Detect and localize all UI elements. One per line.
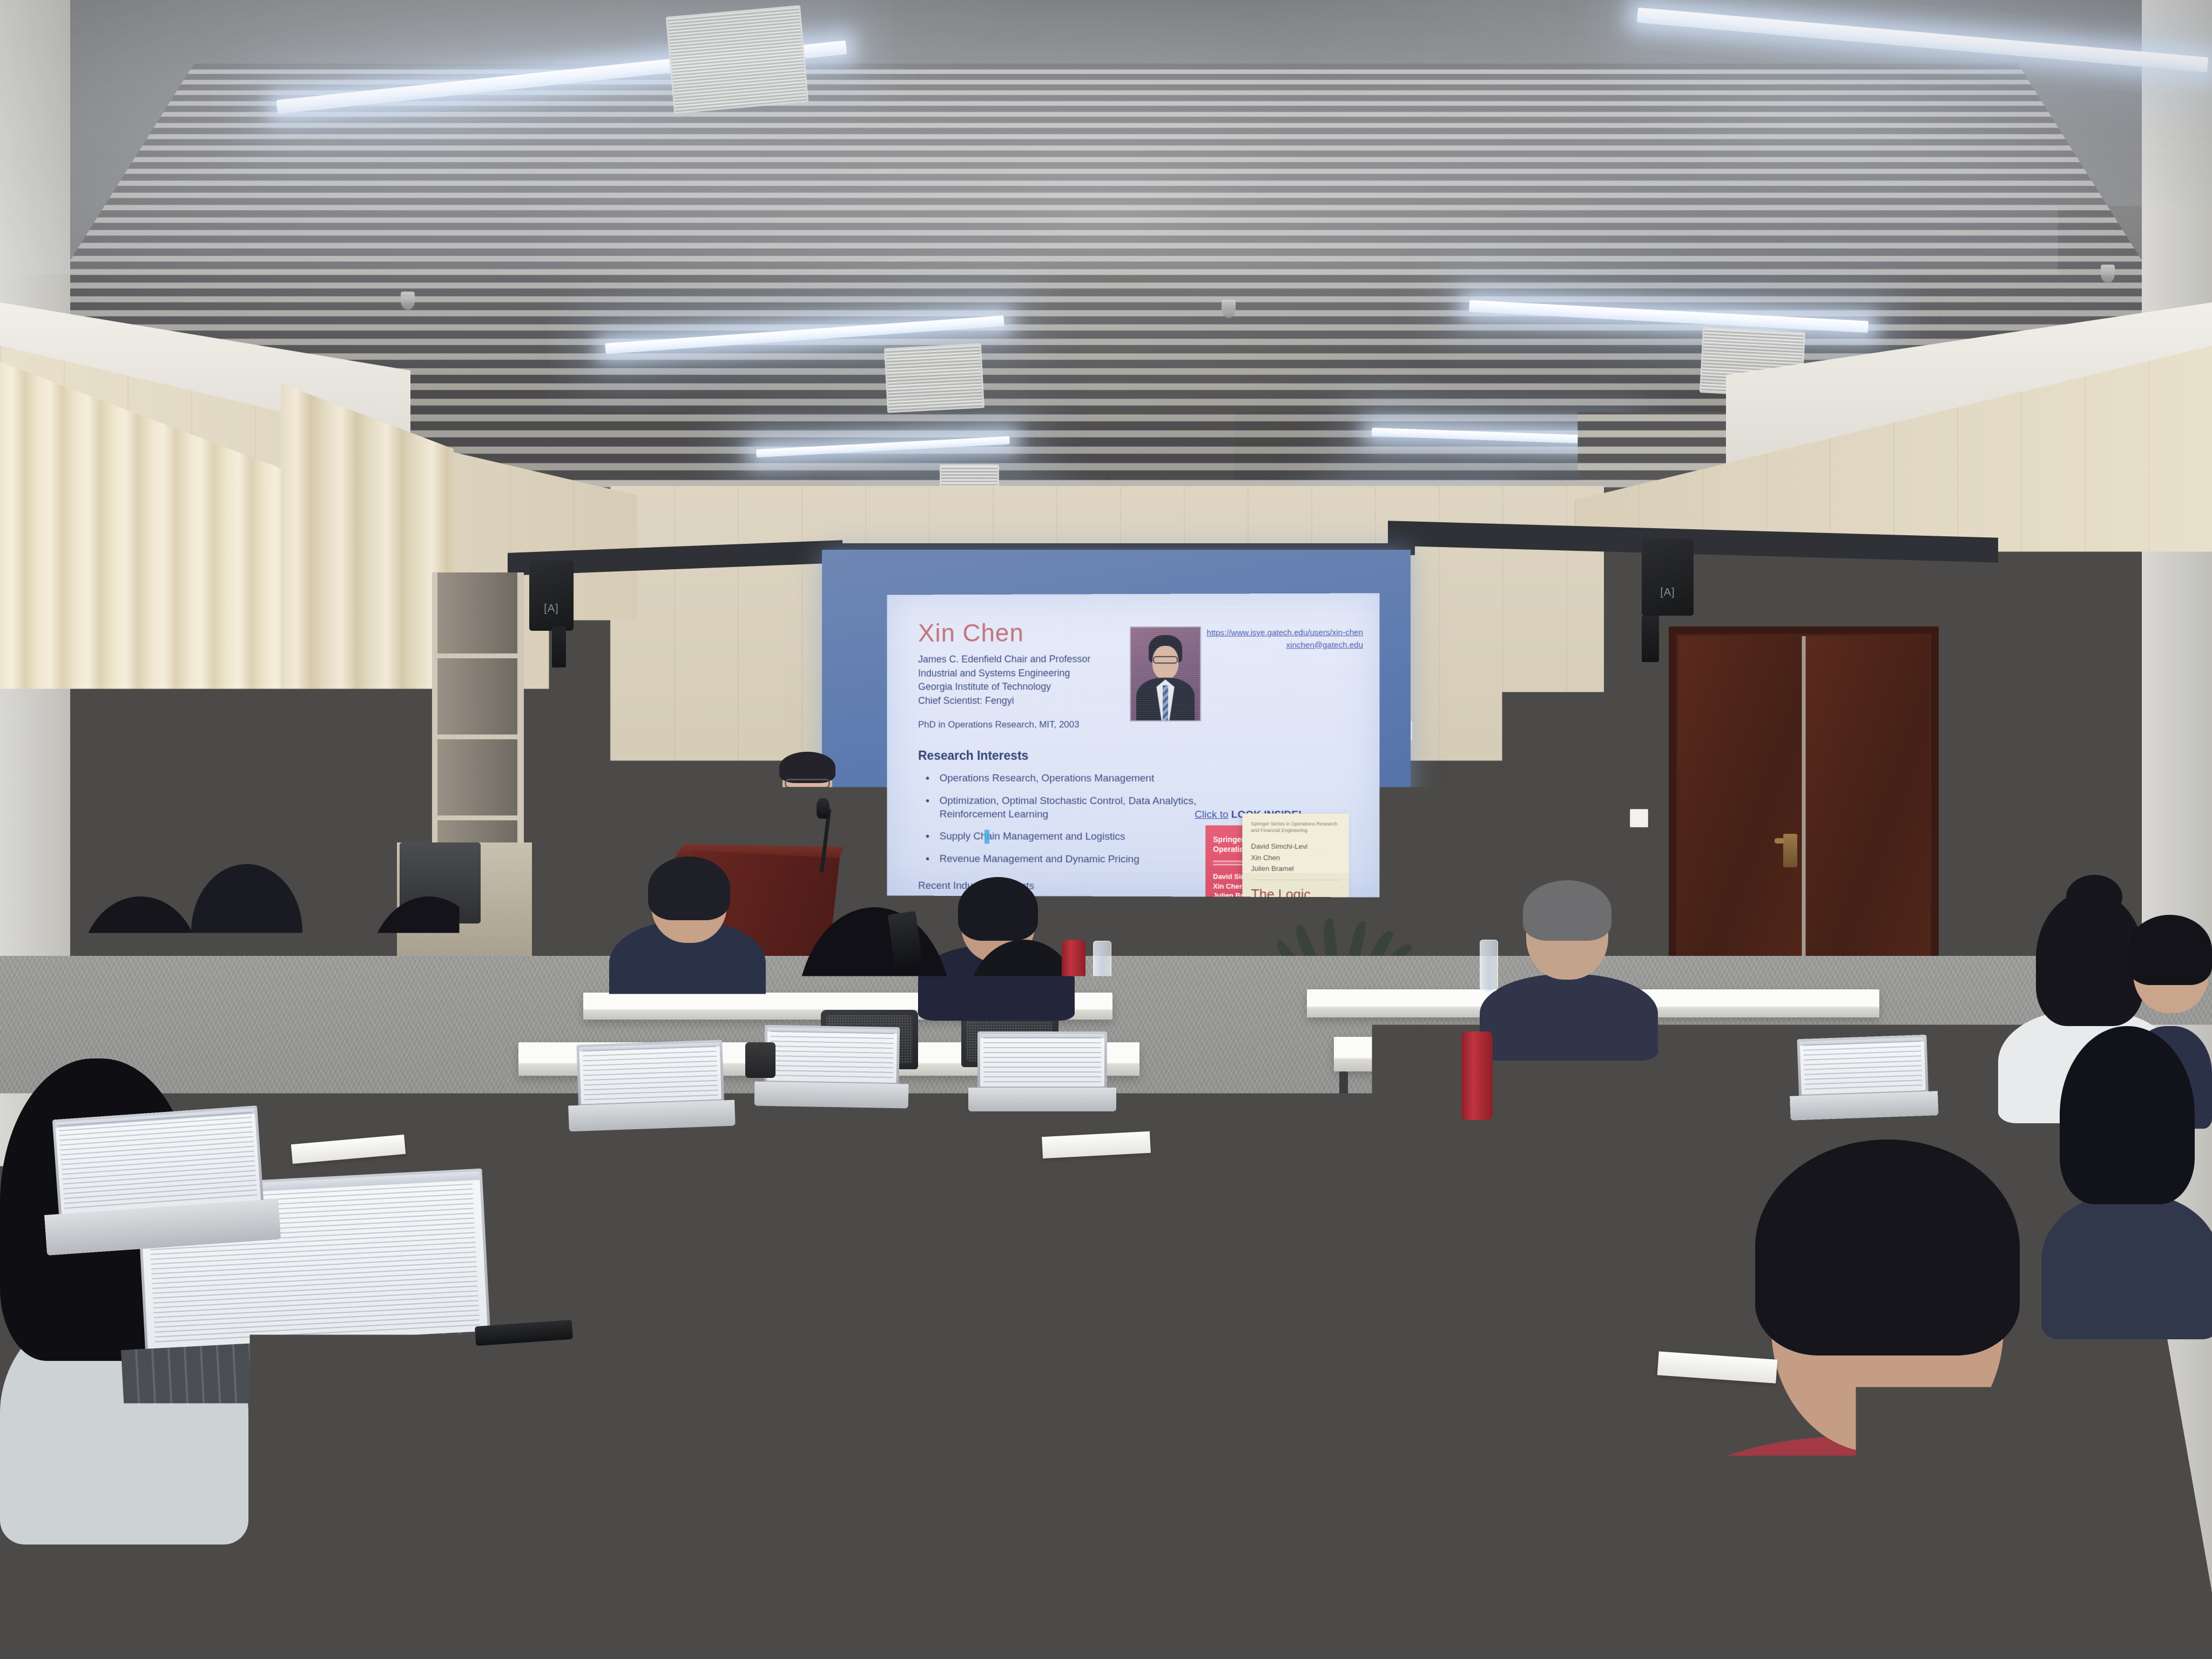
- laptop-lid: [576, 1040, 724, 1107]
- desk-caster: [1380, 1253, 1394, 1267]
- laptop[interactable]: [977, 1031, 1107, 1111]
- speaker-bracket-left: [552, 626, 566, 667]
- sprinkler-head: [1222, 300, 1236, 318]
- person-hair: [1755, 1139, 2020, 1355]
- book-author: David Simchi-Levi: [1251, 841, 1340, 853]
- person-hair: [436, 907, 583, 1123]
- water-bottle[interactable]: [1093, 941, 1111, 993]
- laptop-lid: [977, 1031, 1107, 1089]
- person-hair: [2128, 915, 2212, 985]
- homepage-link[interactable]: https://www.isye.gatech.edu/users/xin-ch…: [1207, 628, 1364, 638]
- look-inside-click-text: Click to: [1195, 809, 1228, 820]
- book-title-line: The Logic: [1251, 888, 1340, 898]
- handbag[interactable]: [151, 1447, 410, 1626]
- person-hair-bun: [2066, 875, 2122, 919]
- sprinkler-head: [401, 292, 415, 310]
- laptop[interactable]: [1554, 1024, 1691, 1111]
- person-hair: [191, 864, 302, 999]
- text-cursor: [984, 829, 989, 844]
- desk-caster: [1516, 1495, 1535, 1513]
- laptop[interactable]: [1797, 1035, 1929, 1120]
- list-item: Supply Chain Management and Logistics: [918, 830, 1219, 844]
- laptop[interactable]: [764, 1025, 900, 1108]
- presenter-glasses: [785, 779, 830, 788]
- desk-caster: [1002, 1507, 1021, 1525]
- laptop-screen[interactable]: [1557, 1027, 1689, 1085]
- laptop-lid: [764, 1025, 900, 1085]
- speaker-brand-mark: [A]: [1660, 586, 1675, 599]
- projection-screen: Xin Chen James C. Edenfield Chair and Pr…: [887, 593, 1380, 897]
- person-hair: [648, 857, 730, 920]
- laptop-screen[interactable]: [55, 1108, 261, 1213]
- thermos-flask[interactable]: [1062, 940, 1085, 1004]
- wall-speaker-left: [A]: [529, 561, 574, 631]
- person-torso: [1653, 1437, 2139, 1659]
- door-handle[interactable]: [1783, 834, 1797, 867]
- book-title: The Logic of Logistics: [1251, 888, 1340, 898]
- wall-speaker-right: [A]: [1642, 539, 1694, 616]
- book-author: Julien Bramel: [1251, 863, 1340, 874]
- desk-caster: [944, 1539, 962, 1557]
- presentation-slide: Xin Chen James C. Edenfield Chair and Pr…: [887, 593, 1380, 897]
- laptop-keyboard[interactable]: [968, 1088, 1116, 1111]
- wall-bookshelf: [432, 572, 524, 875]
- desk-leg: [1015, 1368, 1028, 1509]
- slide-contact-links[interactable]: https://www.isye.gatech.edu/users/xin-ch…: [1200, 627, 1363, 652]
- thermos-flask[interactable]: [1461, 1031, 1493, 1120]
- travel-mug[interactable]: [745, 1042, 775, 1078]
- email-link[interactable]: xinchen@gatech.edu: [1286, 640, 1363, 649]
- laptop-screen[interactable]: [1800, 1037, 1926, 1095]
- light-switch[interactable]: [1630, 809, 1648, 827]
- laptop-screen[interactable]: [980, 1034, 1104, 1087]
- hvac-vent: [666, 5, 809, 113]
- computer-mouse[interactable]: [448, 1361, 483, 1412]
- book-authors: David Simchi-Levi Xin Chen Julien Bramel: [1251, 841, 1340, 874]
- person-hair: [2060, 1026, 2195, 1204]
- laptop[interactable]: [576, 1040, 725, 1131]
- person-hair: [1523, 880, 1611, 941]
- sprinkler-head: [2101, 265, 2115, 283]
- laptop-lid: [1797, 1035, 1928, 1097]
- desk-leg: [1528, 1346, 1541, 1497]
- audience-member: [609, 857, 766, 1008]
- laptop-screen[interactable]: [767, 1028, 898, 1083]
- water-bottle[interactable]: [1572, 967, 1588, 1012]
- laptop-screen[interactable]: [579, 1043, 721, 1104]
- list-item: Optimization, Optimal Stochastic Control…: [918, 794, 1219, 821]
- book-cover-third-edition: Springer Series in Operations Research a…: [1242, 813, 1348, 897]
- laptop-lid: [52, 1105, 264, 1217]
- laptop-lid: [1555, 1024, 1692, 1088]
- list-item: Operations Research, Operations Manageme…: [918, 772, 1219, 786]
- book-series: Springer Series in Operations Research a…: [1251, 821, 1340, 834]
- audience-member: [2041, 1015, 2212, 1339]
- list-item: Revenue Management and Dynamic Pricing: [918, 853, 1219, 867]
- seminar-room-photo: [A] [A] Xin Chen James C. Edenfield Chai…: [0, 0, 2212, 1659]
- projection-screen-frame: Xin Chen James C. Edenfield Chair and Pr…: [822, 550, 1411, 913]
- microphone-icon: [817, 798, 829, 819]
- speaker-brand-mark: [A]: [544, 603, 558, 615]
- book-author: Xin Chen: [1251, 852, 1340, 864]
- speaker-bracket-right: [1642, 616, 1659, 662]
- hvac-vent: [884, 343, 984, 413]
- slide-headshot-photo: [1130, 626, 1201, 721]
- laptop-keyboard[interactable]: [1790, 1091, 1938, 1121]
- laptop[interactable]: [52, 1105, 267, 1255]
- audience-member: [157, 864, 335, 1069]
- desk-leg: [1339, 1071, 1348, 1147]
- person-torso: [2041, 1193, 2212, 1339]
- desk-leg: [1391, 1161, 1400, 1258]
- laptop-keyboard[interactable]: [754, 1082, 908, 1109]
- water-bottle[interactable]: [1480, 940, 1498, 992]
- slide-research-heading: Research Interests: [918, 748, 1365, 763]
- handbag[interactable]: [988, 1258, 1080, 1328]
